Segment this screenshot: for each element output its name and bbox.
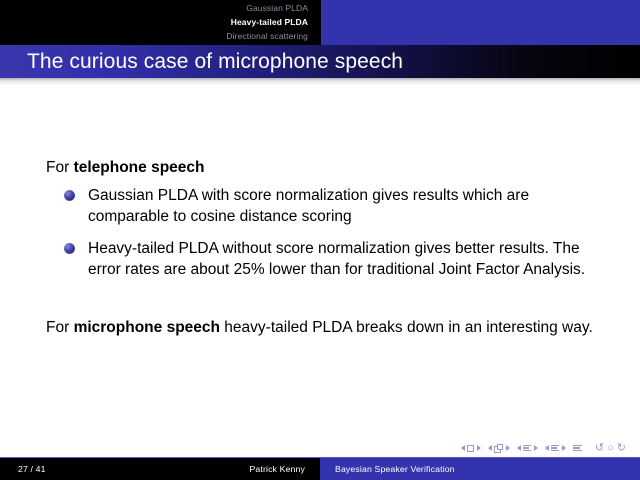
bullet-sphere-icon <box>64 190 75 201</box>
breadcrumb-item-directional-scattering[interactable]: Directional scattering <box>0 29 308 43</box>
breadcrumb: Gaussian PLDA Heavy-tailed PLDA Directio… <box>0 1 321 43</box>
outro-emphasis: microphone speech <box>74 319 220 336</box>
footer-talk-title: Bayesian Speaker Verification <box>335 464 455 474</box>
slide-prev-icon[interactable] <box>461 445 465 451</box>
frame-icon[interactable] <box>494 444 503 453</box>
bullet-list: Gaussian PLDA with score normalization g… <box>62 185 607 291</box>
outro-prefix: For <box>46 319 74 336</box>
document-icon[interactable] <box>573 445 582 452</box>
subsection-navigation-group <box>517 445 538 452</box>
section-next-icon[interactable] <box>562 445 566 451</box>
back-icon[interactable]: ↺ <box>595 443 604 454</box>
bullet-sphere-icon <box>64 243 75 254</box>
slide-content: For telephone speech Gaussian PLDA with … <box>0 85 640 430</box>
history-navigation-group: ↺ ○ ↻ <box>595 443 626 454</box>
list-item-text: Heavy-tailed PLDA without score normaliz… <box>88 240 585 278</box>
intro-prefix: For <box>46 159 74 176</box>
section-prev-icon[interactable] <box>545 445 549 451</box>
title-bar-shadow <box>0 78 640 85</box>
outro-suffix: heavy-tailed PLDA breaks down in an inte… <box>220 319 593 336</box>
forward-icon[interactable]: ↻ <box>617 443 626 454</box>
navigation-headline-bar: Gaussian PLDA Heavy-tailed PLDA Directio… <box>0 0 640 45</box>
outro-paragraph: For microphone speech heavy-tailed PLDA … <box>46 317 596 338</box>
search-icon[interactable]: ○ <box>607 443 614 454</box>
footer-author: Patrick Kenny <box>160 464 305 474</box>
breadcrumb-item-gaussian-plda[interactable]: Gaussian PLDA <box>0 1 308 15</box>
list-item: Gaussian PLDA with score normalization g… <box>62 185 607 227</box>
slide-title-bar: The curious case of microphone speech <box>0 45 640 78</box>
intro-paragraph: For telephone speech <box>46 157 606 178</box>
breadcrumb-item-heavy-tailed-plda[interactable]: Heavy-tailed PLDA <box>0 15 308 29</box>
footer-top-rule <box>0 457 640 458</box>
subsection-next-icon[interactable] <box>534 445 538 451</box>
slide-next-icon[interactable] <box>477 445 481 451</box>
intro-emphasis: telephone speech <box>74 159 205 176</box>
frame-navigation-group <box>488 444 510 453</box>
page-title: The curious case of microphone speech <box>27 50 403 74</box>
frame-next-icon[interactable] <box>506 445 510 451</box>
slide-icon[interactable] <box>467 445 474 452</box>
frame-prev-icon[interactable] <box>488 445 492 451</box>
section-icon[interactable] <box>551 445 559 452</box>
footer-page-number: 27 / 41 <box>18 464 46 474</box>
beamer-navigation-symbols: ↺ ○ ↻ <box>461 441 626 455</box>
footer-bar: 27 / 41 Patrick Kenny Bayesian Speaker V… <box>0 457 640 480</box>
subsection-icon[interactable] <box>523 445 531 452</box>
section-navigation-group <box>545 445 566 452</box>
subsection-prev-icon[interactable] <box>517 445 521 451</box>
list-item: Heavy-tailed PLDA without score normaliz… <box>62 238 607 280</box>
slide-navigation-group <box>461 445 481 452</box>
list-item-text: Gaussian PLDA with score normalization g… <box>88 187 529 225</box>
